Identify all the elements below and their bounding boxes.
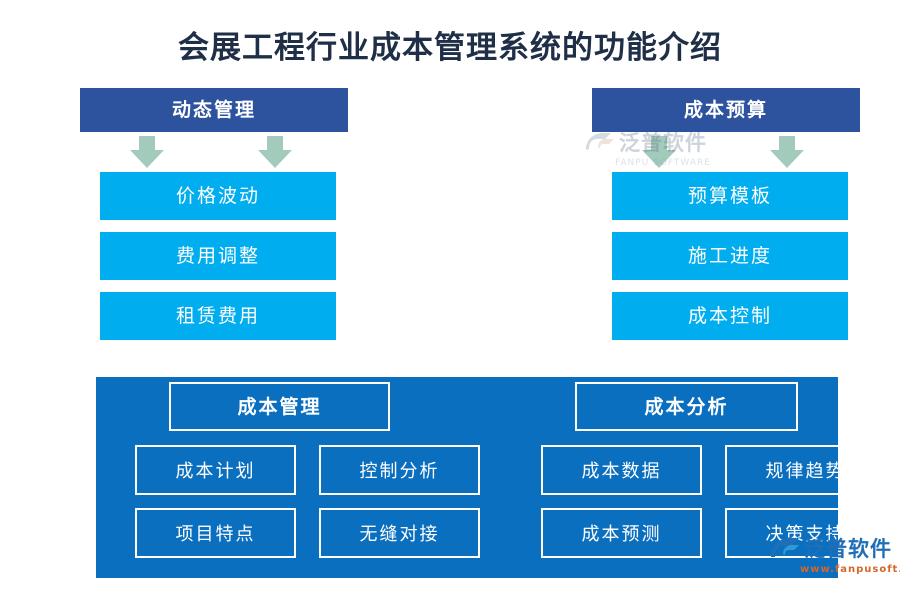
- item-box-fee-adjustment[interactable]: 费用调整: [100, 232, 336, 280]
- leaf-box-control-analysis[interactable]: 控制分析: [319, 445, 480, 495]
- item-box-budget-template[interactable]: 预算模板: [612, 172, 848, 220]
- down-arrow-icon: [130, 136, 164, 168]
- column-dynamic-management: 动态管理 价格波动 费用调整 租赁费用: [80, 88, 348, 352]
- down-arrow-icon: [770, 136, 804, 168]
- leaf-box-cost-forecast[interactable]: 成本预测: [541, 508, 702, 558]
- group-cost-analysis: 成本分析 成本数据 规律趋势 成本预测 决策支持: [505, 377, 850, 578]
- down-arrow-icon: [642, 136, 676, 168]
- leaf-box-cost-plan[interactable]: 成本计划: [135, 445, 296, 495]
- leaf-box-pattern-trend[interactable]: 规律趋势: [725, 445, 886, 495]
- arrow-row-right: [592, 132, 860, 172]
- group-title-cost-analysis[interactable]: 成本分析: [575, 382, 798, 431]
- column-cost-budget: 成本预算 预算模板 施工进度 成本控制: [592, 88, 860, 352]
- group-cost-management: 成本管理 成本计划 控制分析 项目特点 无缝对接: [135, 377, 480, 578]
- item-list-dynamic-management: 价格波动 费用调整 租赁费用: [80, 172, 348, 340]
- slide-canvas: 会展工程行业成本管理系统的功能介绍 动态管理 价格波动 费用调整 租赁费用 成本…: [0, 0, 900, 600]
- column-header-dynamic-management[interactable]: 动态管理: [80, 88, 348, 132]
- group-grid-cost-management: 成本计划 控制分析 项目特点 无缝对接: [135, 445, 480, 558]
- group-grid-cost-analysis: 成本数据 规律趋势 成本预测 决策支持: [541, 445, 886, 558]
- column-header-cost-budget[interactable]: 成本预算: [592, 88, 860, 132]
- leaf-box-cost-data[interactable]: 成本数据: [541, 445, 702, 495]
- leaf-box-project-features[interactable]: 项目特点: [135, 508, 296, 558]
- page-title: 会展工程行业成本管理系统的功能介绍: [0, 22, 900, 67]
- group-title-cost-management[interactable]: 成本管理: [169, 382, 390, 431]
- leaf-box-seamless-integration[interactable]: 无缝对接: [319, 508, 480, 558]
- item-box-rental-fee[interactable]: 租赁费用: [100, 292, 336, 340]
- item-box-construction-progress[interactable]: 施工进度: [612, 232, 848, 280]
- item-list-cost-budget: 预算模板 施工进度 成本控制: [592, 172, 860, 340]
- item-box-price-fluctuation[interactable]: 价格波动: [100, 172, 336, 220]
- arrow-row-left: [80, 132, 348, 172]
- bottom-panel: 成本管理 成本计划 控制分析 项目特点 无缝对接 成本分析 成本数据 规律趋势 …: [96, 377, 838, 578]
- down-arrow-icon: [258, 136, 292, 168]
- item-box-cost-control[interactable]: 成本控制: [612, 292, 848, 340]
- leaf-box-decision-support[interactable]: 决策支持: [725, 508, 886, 558]
